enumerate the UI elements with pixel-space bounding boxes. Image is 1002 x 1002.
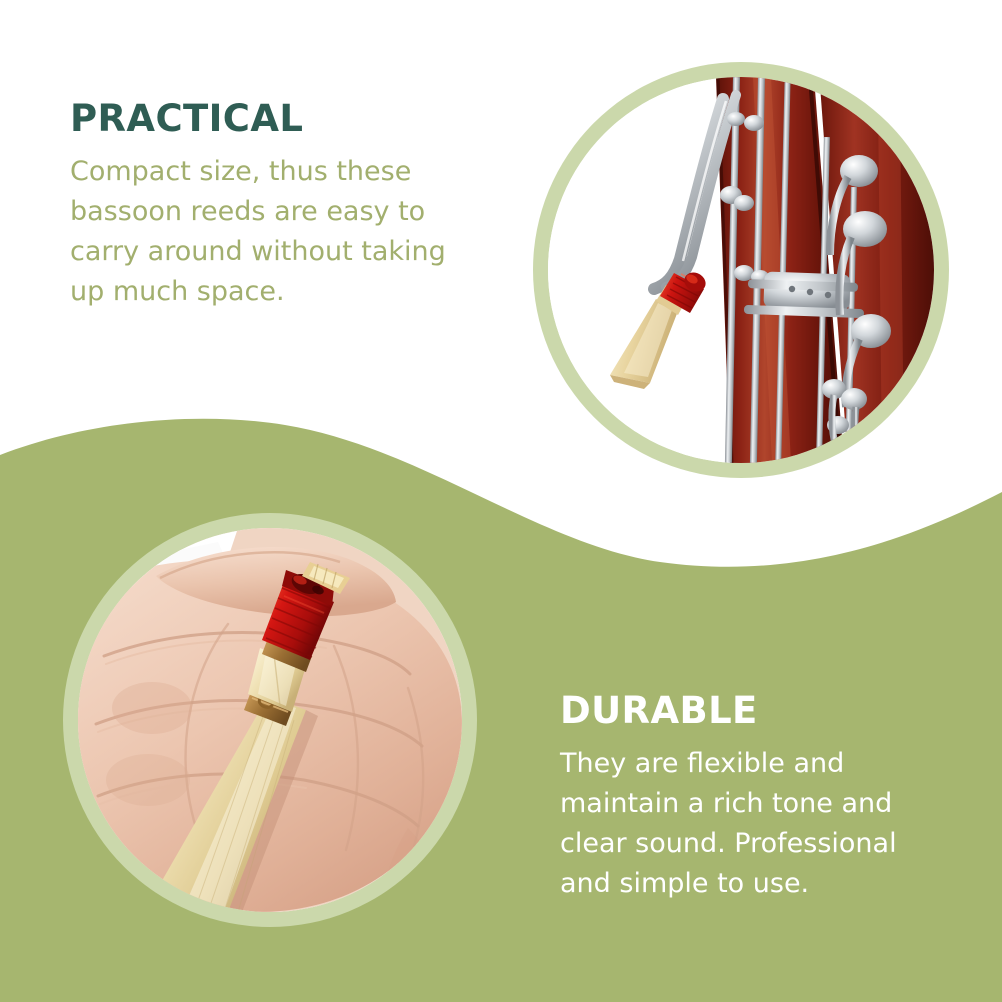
practical-body-text: Compact size, thus these bassoon reeds a… [70, 152, 450, 312]
durable-text-block: DURABLE They are flexible and maintain a… [560, 692, 960, 904]
bassoon-photo [548, 77, 934, 463]
product-infographic-poster: PRACTICAL Compact size, thus these basso… [0, 0, 1002, 1002]
reed-in-hand-photo [78, 528, 462, 912]
durable-body-text: They are flexible and maintain a rich to… [560, 744, 940, 904]
practical-heading: PRACTICAL [70, 100, 470, 139]
durable-heading: DURABLE [560, 692, 960, 731]
practical-text-block: PRACTICAL Compact size, thus these basso… [70, 100, 470, 312]
